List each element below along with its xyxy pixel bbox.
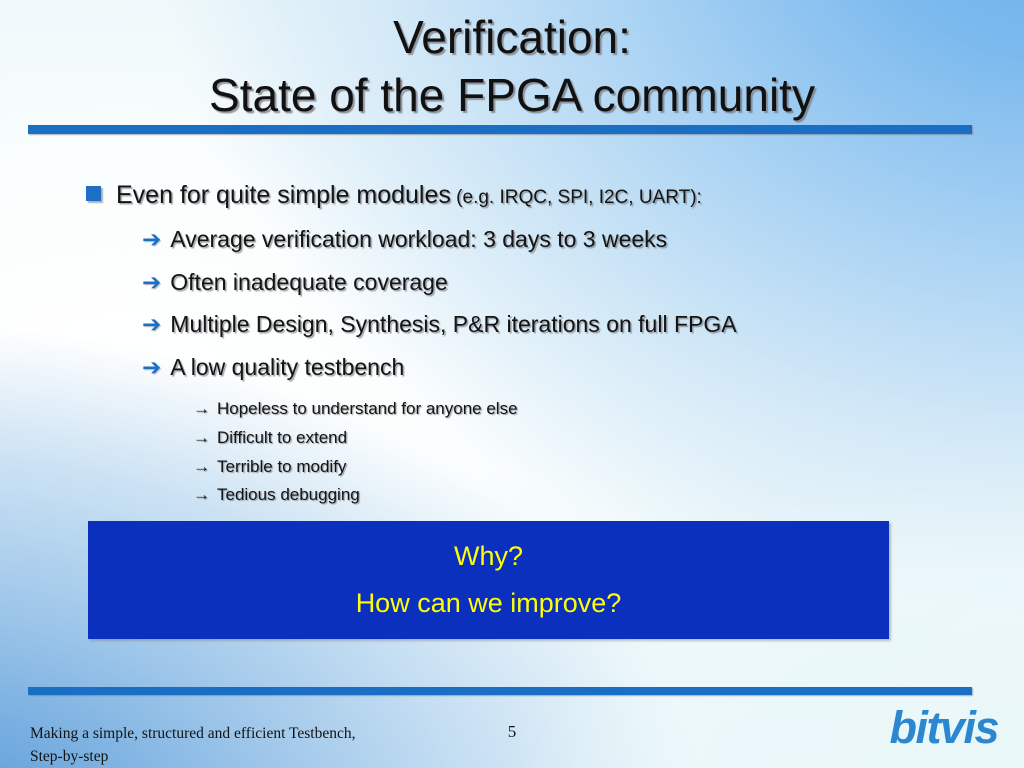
arrow-right-icon: ➔ — [142, 349, 161, 386]
bullet-level3-item: →Hopeless to understand for anyone else — [193, 395, 1024, 424]
bullet-level3-label: Terrible to modify — [217, 457, 346, 476]
bullet-level2-label: Average verification workload: 3 days to… — [170, 226, 667, 252]
bullet-level2-label: Multiple Design, Synthesis, P&R iteratio… — [170, 311, 736, 337]
bullet-level1-label: Even for quite simple modules — [116, 181, 451, 209]
callout-line-2: How can we improve? — [356, 580, 622, 627]
square-bullet-icon — [86, 186, 101, 201]
slide-title: Verification: State of the FPGA communit… — [0, 8, 1024, 124]
bullet-level3-label: Difficult to extend — [217, 428, 347, 447]
arrow-right-icon: → — [193, 395, 210, 424]
bitvis-logo: bitvis — [889, 702, 998, 754]
bullet-level2-label: A low quality testbench — [170, 354, 404, 380]
bullet-level3-label: Hopeless to understand for anyone else — [217, 399, 518, 418]
callout-box: Why? How can we improve? — [88, 521, 889, 639]
title-divider-rule — [28, 125, 972, 134]
arrow-right-icon: ➔ — [142, 264, 161, 301]
slide-canvas: Verification: State of the FPGA communit… — [0, 0, 1024, 768]
bullet-level3-label: Tedious debugging — [217, 485, 360, 504]
bullet-level2-item: ➔A low quality testbench — [142, 349, 1024, 386]
bullet-level3-item: →Difficult to extend — [193, 424, 1024, 453]
bullet-level2-label: Often inadequate coverage — [170, 269, 447, 295]
arrow-right-icon: → — [193, 424, 210, 453]
arrow-right-icon: ➔ — [142, 221, 161, 258]
arrow-right-icon: → — [193, 453, 210, 482]
arrow-right-icon: ➔ — [142, 306, 161, 343]
footer-divider-rule — [28, 687, 972, 695]
bullet-level2-item: ➔Average verification workload: 3 days t… — [142, 221, 1024, 258]
bullet-level2-item: ➔Multiple Design, Synthesis, P&R iterati… — [142, 306, 1024, 343]
bullet-level2-item: ➔Often inadequate coverage — [142, 264, 1024, 301]
arrow-right-icon: → — [193, 481, 210, 510]
bullet-level3-item: →Terrible to modify — [193, 453, 1024, 482]
page-number: 5 — [0, 722, 1024, 742]
callout-line-1: Why? — [454, 533, 523, 580]
bullet-level1: Even for quite simple modules (e.g. IRQC… — [86, 178, 1024, 215]
bullet-level3-item: →Tedious debugging — [193, 481, 1024, 510]
bullet-level1-note: (e.g. IRQC, SPI, I2C, UART): — [451, 187, 702, 208]
slide-body: Even for quite simple modules (e.g. IRQC… — [0, 178, 1024, 510]
